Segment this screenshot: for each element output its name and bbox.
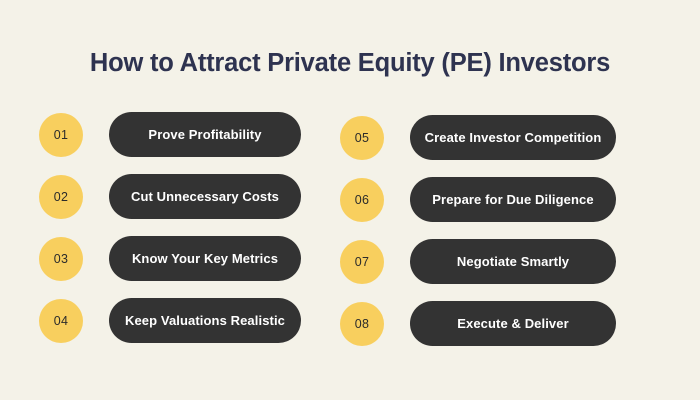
step-number-badge: 08 bbox=[340, 302, 384, 346]
step-number-badge: 06 bbox=[340, 178, 384, 222]
step-number-badge: 07 bbox=[340, 240, 384, 284]
step-item[interactable]: 06 Prepare for Due Diligence bbox=[340, 177, 616, 222]
step-label-pill[interactable]: Cut Unnecessary Costs bbox=[109, 174, 301, 219]
steps-column-right: 05 Create Investor Competition 06 Prepar… bbox=[340, 112, 616, 346]
steps-column-left: 01 Prove Profitability 02 Cut Unnecessar… bbox=[39, 112, 301, 346]
infographic-canvas: How to Attract Private Equity (PE) Inves… bbox=[0, 0, 700, 400]
step-number-badge: 05 bbox=[340, 116, 384, 160]
step-label-pill[interactable]: Know Your Key Metrics bbox=[109, 236, 301, 281]
step-label-pill[interactable]: Create Investor Competition bbox=[410, 115, 616, 160]
page-title: How to Attract Private Equity (PE) Inves… bbox=[0, 48, 700, 78]
step-item[interactable]: 02 Cut Unnecessary Costs bbox=[39, 174, 301, 219]
step-label-pill[interactable]: Prepare for Due Diligence bbox=[410, 177, 616, 222]
step-number-badge: 03 bbox=[39, 237, 83, 281]
step-item[interactable]: 05 Create Investor Competition bbox=[340, 115, 616, 160]
step-item[interactable]: 04 Keep Valuations Realistic bbox=[39, 298, 301, 343]
step-number-badge: 02 bbox=[39, 175, 83, 219]
step-number-badge: 01 bbox=[39, 113, 83, 157]
step-item[interactable]: 01 Prove Profitability bbox=[39, 112, 301, 157]
step-number-badge: 04 bbox=[39, 299, 83, 343]
step-label-pill[interactable]: Negotiate Smartly bbox=[410, 239, 616, 284]
step-item[interactable]: 07 Negotiate Smartly bbox=[340, 239, 616, 284]
step-item[interactable]: 03 Know Your Key Metrics bbox=[39, 236, 301, 281]
step-item[interactable]: 08 Execute & Deliver bbox=[340, 301, 616, 346]
step-label-pill[interactable]: Keep Valuations Realistic bbox=[109, 298, 301, 343]
steps-container: 01 Prove Profitability 02 Cut Unnecessar… bbox=[0, 112, 700, 346]
step-label-pill[interactable]: Execute & Deliver bbox=[410, 301, 616, 346]
step-label-pill[interactable]: Prove Profitability bbox=[109, 112, 301, 157]
